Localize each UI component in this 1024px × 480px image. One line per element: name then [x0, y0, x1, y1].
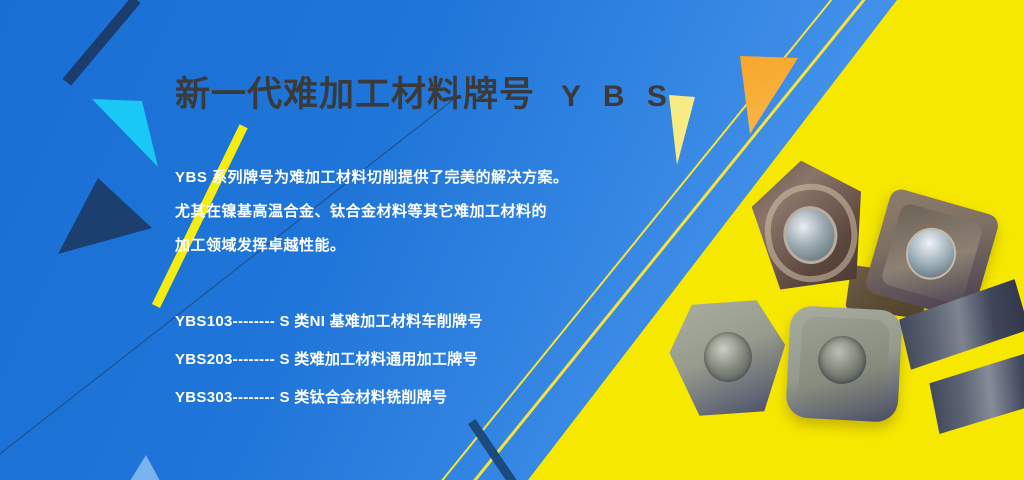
product-banner: 新一代难加工材料牌号 Y B S YBS 系列牌号为难加工材料切削提供了完美的解…: [0, 0, 1024, 480]
headline-main: 新一代难加工材料牌号: [175, 66, 535, 117]
banner-model-list: YBS103-------- S 类NI 基难加工材料车削牌号 YBS203--…: [175, 303, 605, 417]
description-line: YBS 系列牌号为难加工材料切削提供了完美的解决方案。: [175, 161, 605, 195]
navy-triangle-icon: [58, 178, 154, 256]
description-line: 加工领域发挥卓越性能。: [175, 229, 605, 263]
cyan-triangle-icon: [92, 99, 162, 169]
model-list-item: YBS203-------- S 类难加工材料通用加工牌号: [175, 341, 605, 379]
banner-description: YBS 系列牌号为难加工材料切削提供了完美的解决方案。 尤其在镍基高温合金、钛合…: [175, 161, 605, 263]
model-list-item: YBS303-------- S 类钛合金材料铣削牌号: [175, 379, 605, 417]
navy-diagonal-bar-bottom: [468, 419, 521, 480]
product-insert-group: [640, 150, 1024, 480]
hexagon-insert: [666, 296, 790, 420]
banner-headline: 新一代难加工材料牌号 Y B S: [175, 66, 605, 117]
insert-hole: [702, 330, 753, 383]
light-blue-triangle-icon: [130, 455, 162, 480]
rounded-square-insert: [785, 305, 903, 423]
orange-triangle-icon: [740, 56, 800, 136]
model-list-item: YBS103-------- S 类NI 基难加工材料车削牌号: [175, 303, 605, 341]
description-line: 尤其在镍基高温合金、钛合金材料等其它难加工材料的: [175, 195, 605, 229]
navy-diagonal-bar-top-left: [63, 0, 141, 86]
banner-text-column: 新一代难加工材料牌号 Y B S YBS 系列牌号为难加工材料切削提供了完美的解…: [175, 66, 605, 417]
headline-brand: Y B S: [561, 80, 674, 114]
